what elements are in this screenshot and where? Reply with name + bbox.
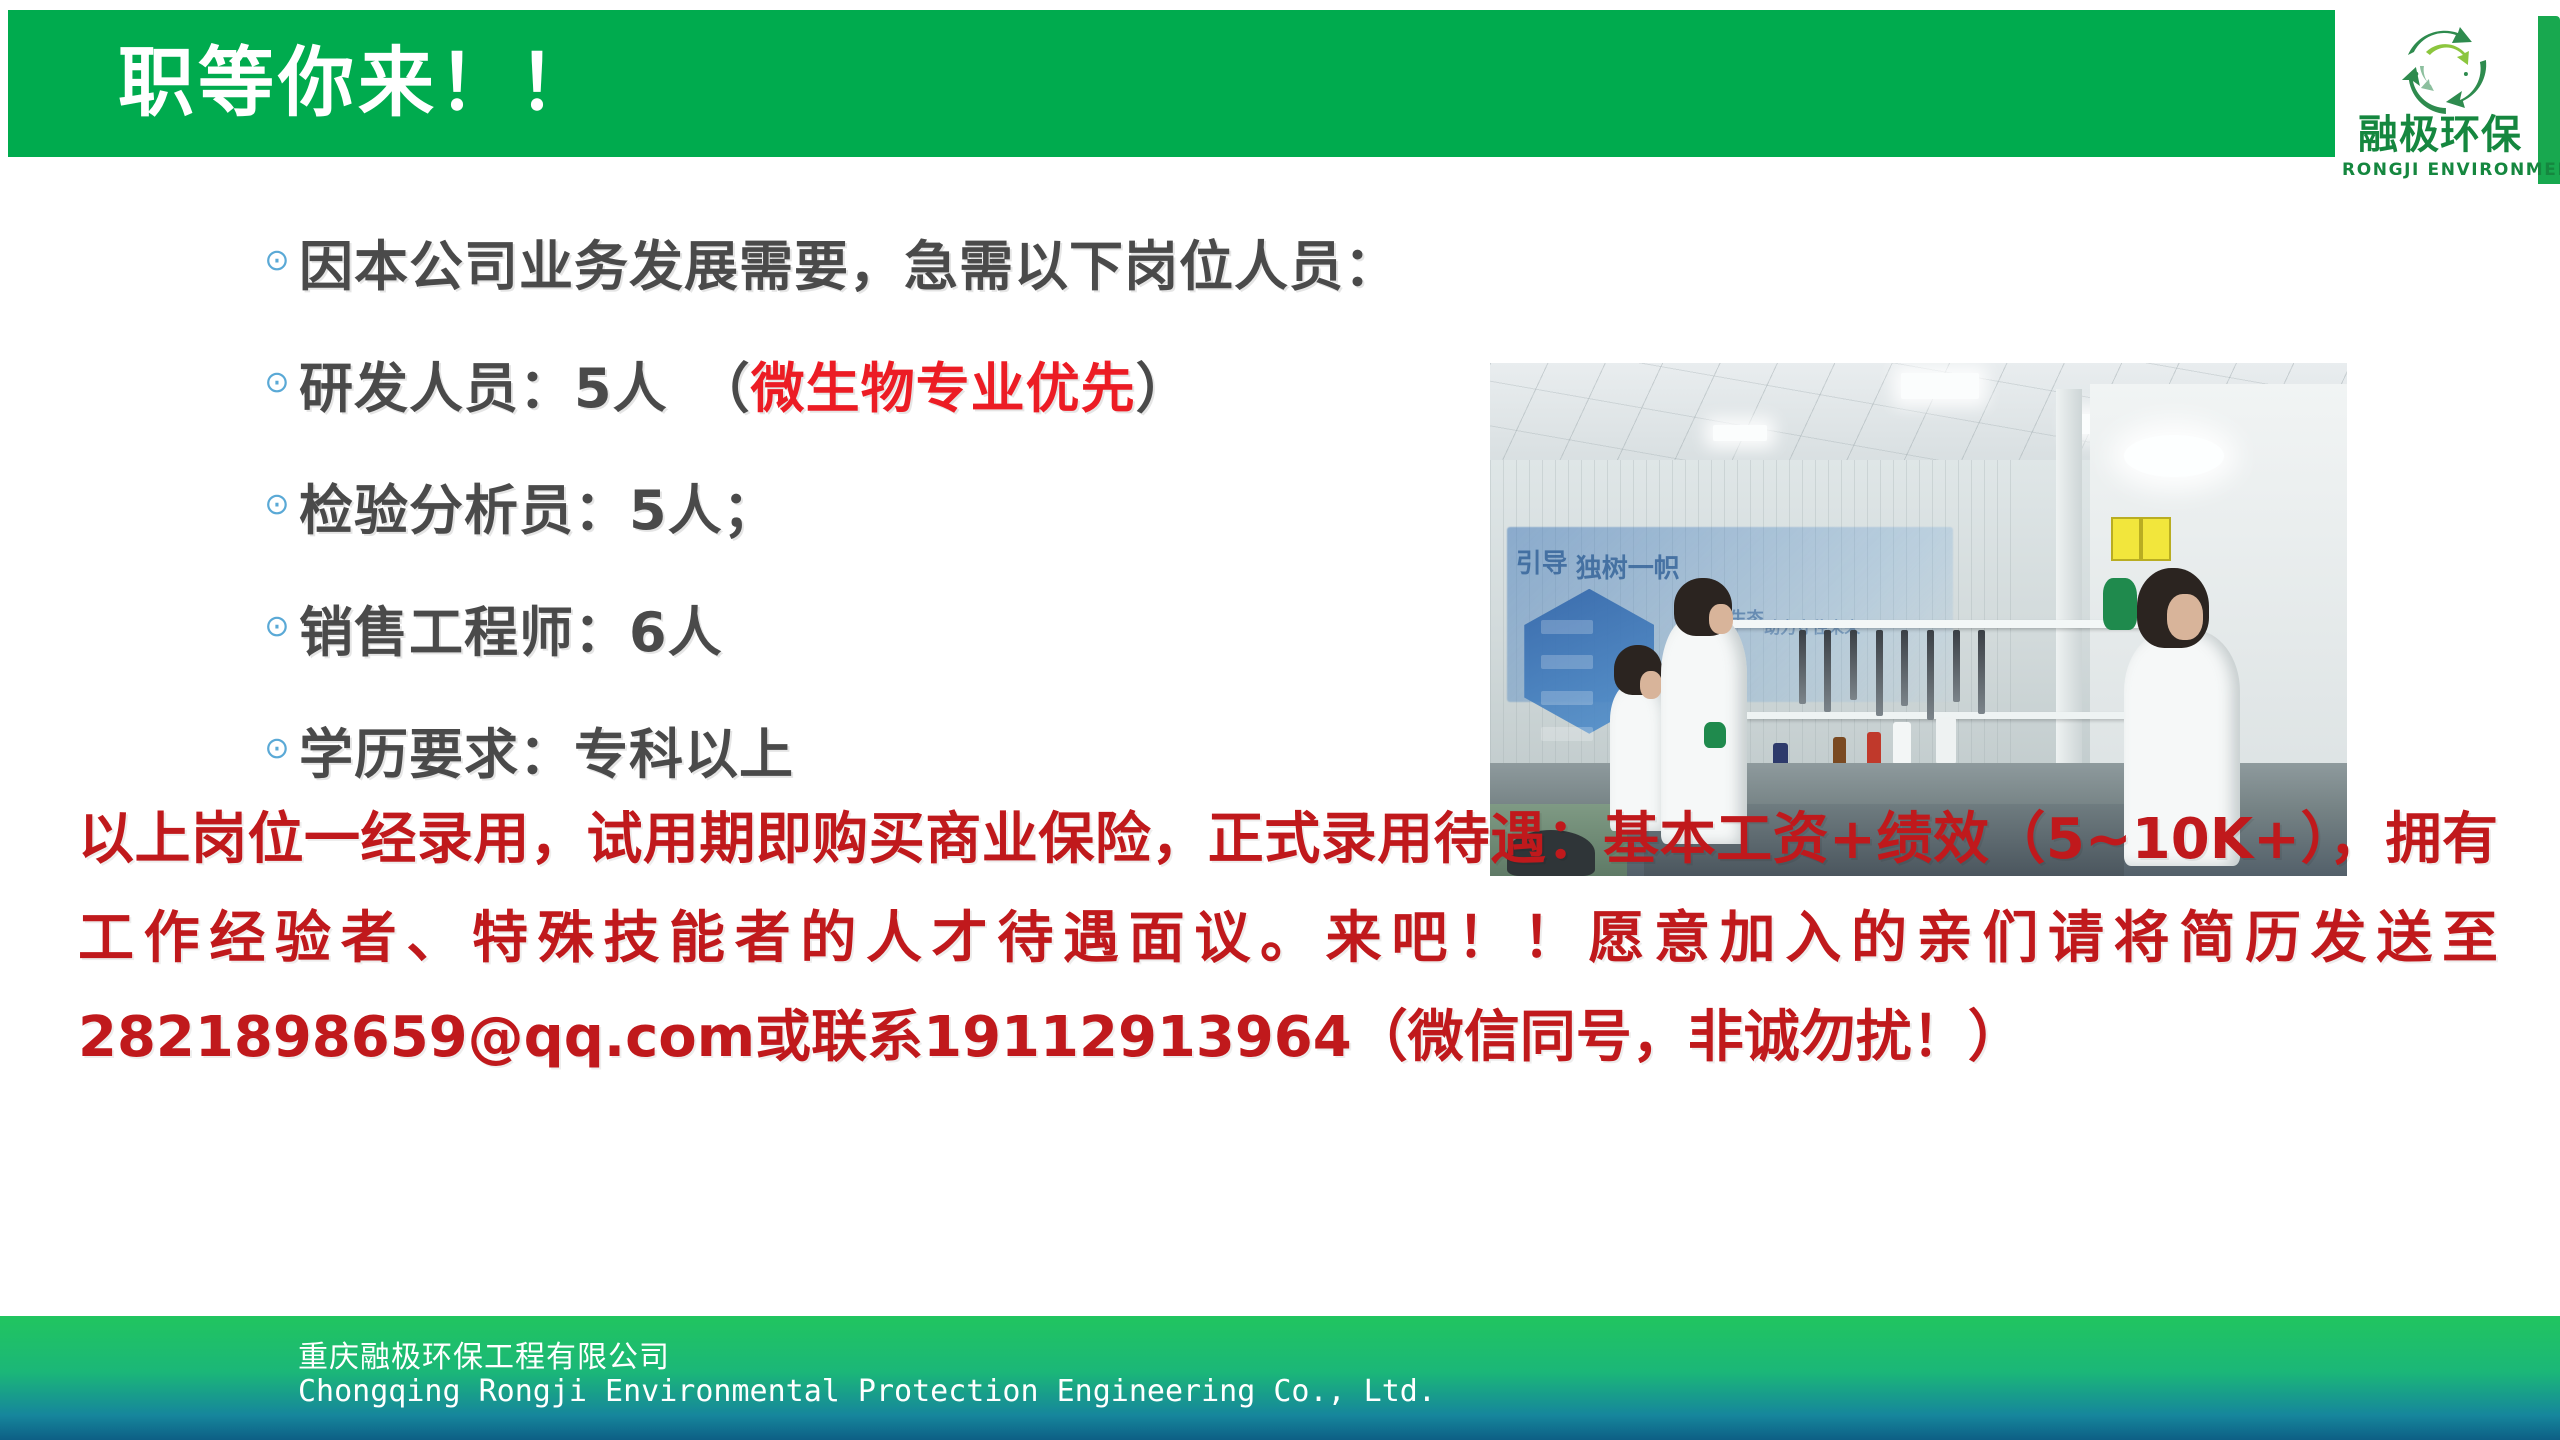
- photo-burette: [1824, 630, 1831, 712]
- photo-burette: [1799, 630, 1806, 704]
- photo-hazard-sign: [2111, 517, 2141, 561]
- photo-technician-glove: [1704, 722, 1726, 748]
- bullet-dot-icon: ⊙: [255, 734, 299, 764]
- recruitment-details-paragraph: 以上岗位一经录用，试用期即购买商业保险，正式录用待遇：基本工资+绩效（5~10K…: [78, 790, 2498, 1087]
- footer-band: 重庆融极环保工程有限公司 Chongqing Rongji Environmen…: [0, 1316, 2560, 1440]
- recycle-circle-icon: [2394, 22, 2498, 114]
- logo-accent-bar: [2538, 16, 2560, 184]
- photo-burette: [1876, 630, 1883, 716]
- header-banner: 职等你来！！: [8, 10, 2335, 157]
- photo-hex-cell: [1541, 691, 1593, 705]
- bullet-item-label: 销售工程师：6人: [299, 588, 723, 667]
- photo-burette: [1927, 630, 1934, 720]
- photo-burette: [1953, 630, 1960, 702]
- list-item: ⊙ 研发人员：5人 （微生物专业优先）: [255, 322, 1505, 444]
- photo-hex-cell: [1541, 655, 1593, 669]
- photo-burette: [1978, 630, 1985, 714]
- photo-technician-face: [1640, 671, 1662, 699]
- bullet-item-label: 学历要求：专科以上: [299, 710, 794, 789]
- bullet-item-label: 因本公司业务发展需要，急需以下岗位人员：: [299, 222, 1399, 301]
- photo-wall-slogan: 独树一帜: [1576, 548, 1680, 585]
- logo-chinese-name: 融极环保: [2346, 112, 2534, 158]
- photo-pillar: [2056, 389, 2082, 799]
- list-item: ⊙ 检验分析员：5人；: [255, 444, 1505, 566]
- photo-technician-face: [2167, 594, 2203, 640]
- bullet-item-label: 检验分析员：5人；: [299, 466, 778, 545]
- photo-burette: [1901, 630, 1908, 706]
- job-bullet-list: ⊙ 因本公司业务发展需要，急需以下岗位人员： ⊙ 研发人员：5人 （微生物专业优…: [255, 200, 1505, 810]
- list-item: ⊙ 因本公司业务发展需要，急需以下岗位人员：: [255, 200, 1505, 322]
- photo-burette: [1850, 630, 1857, 700]
- footer-company-cn: 重庆融极环保工程有限公司: [298, 1332, 670, 1376]
- bullet-dot-icon: ⊙: [255, 490, 299, 520]
- bullet-dot-icon: ⊙: [255, 368, 299, 398]
- photo-technician-face: [1709, 604, 1733, 634]
- photo-ceiling-light: [1901, 373, 1979, 399]
- page-title: 职等你来！！: [118, 24, 598, 142]
- bullet-highlight: 微生物专业优先: [751, 357, 1136, 420]
- photo-wall-slogan: 引导: [1516, 543, 1568, 580]
- photo-hazard-sign: [2141, 517, 2171, 561]
- list-item: ⊙ 销售工程师：6人: [255, 566, 1505, 688]
- photo-hex-cell: [1541, 727, 1593, 741]
- company-logo: 融极环保 RONGJI ENVIRONMENT: [2336, 8, 2560, 196]
- photo-ceiling-light: [1713, 425, 1767, 441]
- photo-technician-glove: [2103, 578, 2137, 630]
- photo-reagent-bottle: [1893, 722, 1911, 766]
- photo-reagent-bottle: [1936, 717, 1956, 765]
- logo-english-name: RONGJI ENVIRONMENT: [2342, 160, 2536, 180]
- bullet-dot-icon: ⊙: [255, 612, 299, 642]
- photo-hex-cell: [1541, 620, 1593, 634]
- photo-right-lamp: [2124, 435, 2224, 477]
- footer-company-en: Chongqing Rongji Environmental Protectio…: [298, 1374, 1436, 1409]
- bullet-dot-icon: ⊙: [255, 246, 299, 276]
- bullet-item-label: 研发人员：5人 （微生物专业优先）: [299, 344, 1191, 423]
